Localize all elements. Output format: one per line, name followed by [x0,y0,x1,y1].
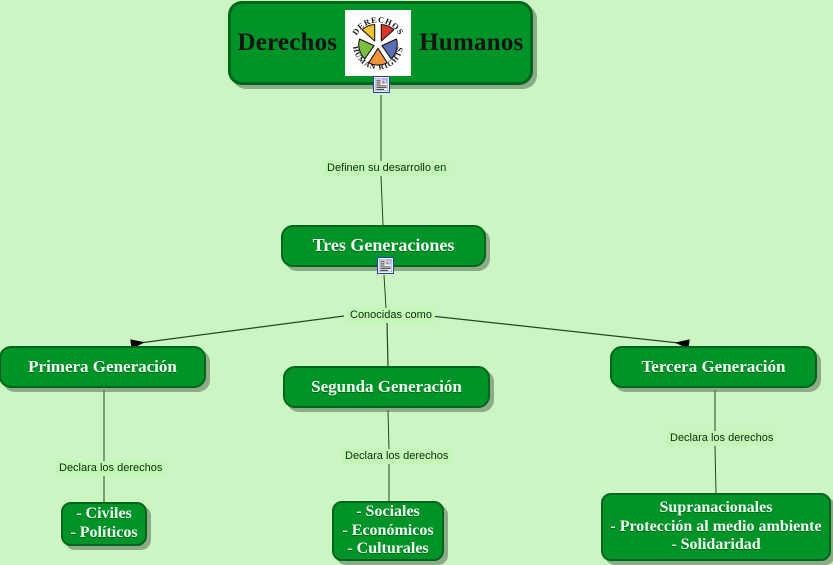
note-document-icon[interactable] [377,257,394,274]
node-derechos-civiles-politicos[interactable]: - Civiles - Políticos [61,502,147,546]
node-derechos-supranacionales-label: Supranacionales - Protección al medio am… [603,499,829,556]
link-label-declara-los-derechos-segunda: Declara los derechos [342,449,451,464]
node-tercera-generacion-label: Tercera Generación [612,357,815,377]
node-segunda-generacion[interactable]: Segunda Generación [283,366,490,408]
link-label-conocidas-como: Conocidas como [347,308,435,323]
link-label-declara-los-derechos-tercera: Declara los derechos [667,431,776,446]
node-derechos-humanos[interactable]: Derechos DERECHOS HUMAN RIGHTS [228,1,533,85]
node-tercera-generacion[interactable]: Tercera Generación [610,346,817,388]
human-rights-emblem-icon: DERECHOS HUMAN RIGHTS [345,10,411,76]
node-primera-generacion[interactable]: Primera Generación [0,346,206,388]
link-label-definen-su-desarrollo-en: Definen su desarrollo en [324,161,449,176]
node-primera-generacion-label: Primera Generación [1,357,204,377]
node-tres-generaciones-label: Tres Generaciones [283,235,484,256]
link-label-declara-los-derechos-primera: Declara los derechos [56,461,165,476]
node-derechos-supranacionales[interactable]: Supranacionales - Protección al medio am… [601,493,831,561]
node-segunda-generacion-label: Segunda Generación [285,377,488,397]
node-derechos-sociales-economicos-culturales[interactable]: - Sociales - Económicos - Culturales [332,501,444,561]
concept-map-canvas: Derechos DERECHOS HUMAN RIGHTS [0,0,833,565]
node-derechos-sociales-economicos-culturales-label: - Sociales - Económicos - Culturales [334,503,442,560]
root-title-left: Derechos [238,29,338,57]
node-derechos-civiles-politicos-label: - Civiles - Políticos [63,505,145,543]
note-document-icon[interactable] [373,76,390,93]
root-title-right: Humanos [419,29,523,57]
